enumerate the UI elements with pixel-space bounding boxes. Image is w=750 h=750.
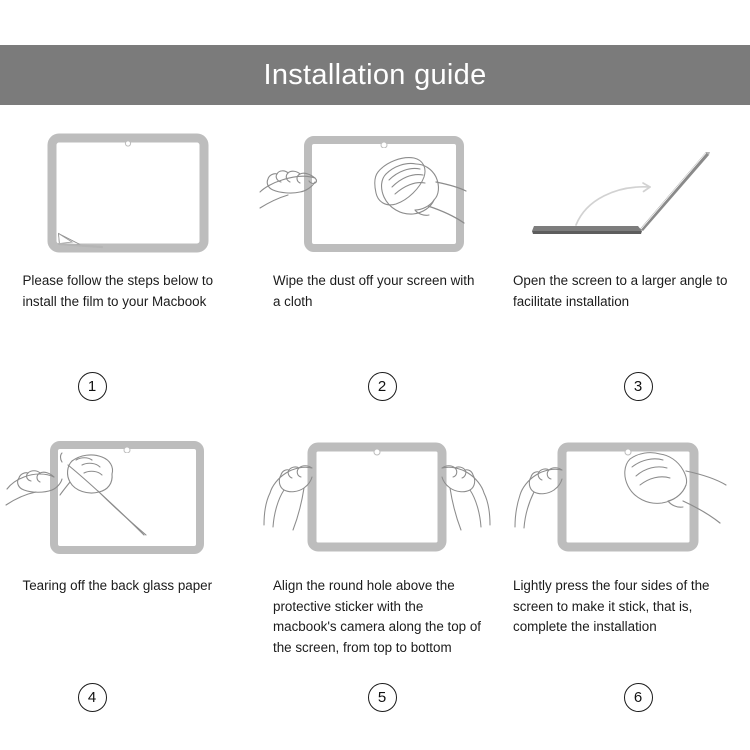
step-number-badge: 5	[368, 683, 397, 712]
step-4: Tearing off the back glass paper 4	[0, 425, 250, 730]
step-3: Open the screen to a larger angle to fac…	[500, 120, 750, 425]
step-1-caption: Please follow the steps below to install…	[13, 271, 238, 312]
step-3-number-wrap: 3	[513, 372, 750, 401]
step-6-illustration	[510, 435, 740, 560]
step-5-illustration	[260, 435, 490, 560]
step-number-badge: 3	[624, 372, 653, 401]
step-2-caption: Wipe the dust off your screen with a clo…	[265, 271, 485, 312]
step-4-illustration	[10, 435, 240, 560]
step-5-caption: Align the round hole above the protectiv…	[265, 576, 485, 658]
step-2-number-wrap: 2	[257, 372, 507, 401]
step-4-caption: Tearing off the back glass paper	[13, 576, 238, 597]
step-1: Please follow the steps below to install…	[0, 120, 250, 425]
page-title: Installation guide	[263, 59, 486, 92]
step-6-number-wrap: 6	[513, 683, 750, 712]
step-number-badge: 2	[368, 372, 397, 401]
step-5-number-wrap: 5	[257, 683, 507, 712]
step-6-caption: Lightly press the four sides of the scre…	[509, 576, 741, 638]
header-bar: Installation guide	[0, 45, 750, 105]
step-number-badge: 6	[624, 683, 653, 712]
step-5: Align the round hole above the protectiv…	[250, 425, 500, 730]
step-1-illustration	[10, 130, 240, 255]
step-1-number-wrap: 1	[0, 372, 217, 401]
installation-guide-page: Installation guide P	[0, 0, 750, 750]
step-3-caption: Open the screen to a larger angle to fac…	[509, 271, 741, 312]
step-2: Wipe the dust off your screen with a clo…	[250, 120, 500, 425]
step-2-illustration	[260, 130, 490, 255]
step-number-badge: 1	[78, 372, 107, 401]
step-3-illustration	[510, 130, 740, 255]
step-6: Lightly press the four sides of the scre…	[500, 425, 750, 730]
step-number-badge: 4	[78, 683, 107, 712]
step-4-number-wrap: 4	[0, 683, 217, 712]
steps-grid: Please follow the steps below to install…	[0, 120, 750, 730]
